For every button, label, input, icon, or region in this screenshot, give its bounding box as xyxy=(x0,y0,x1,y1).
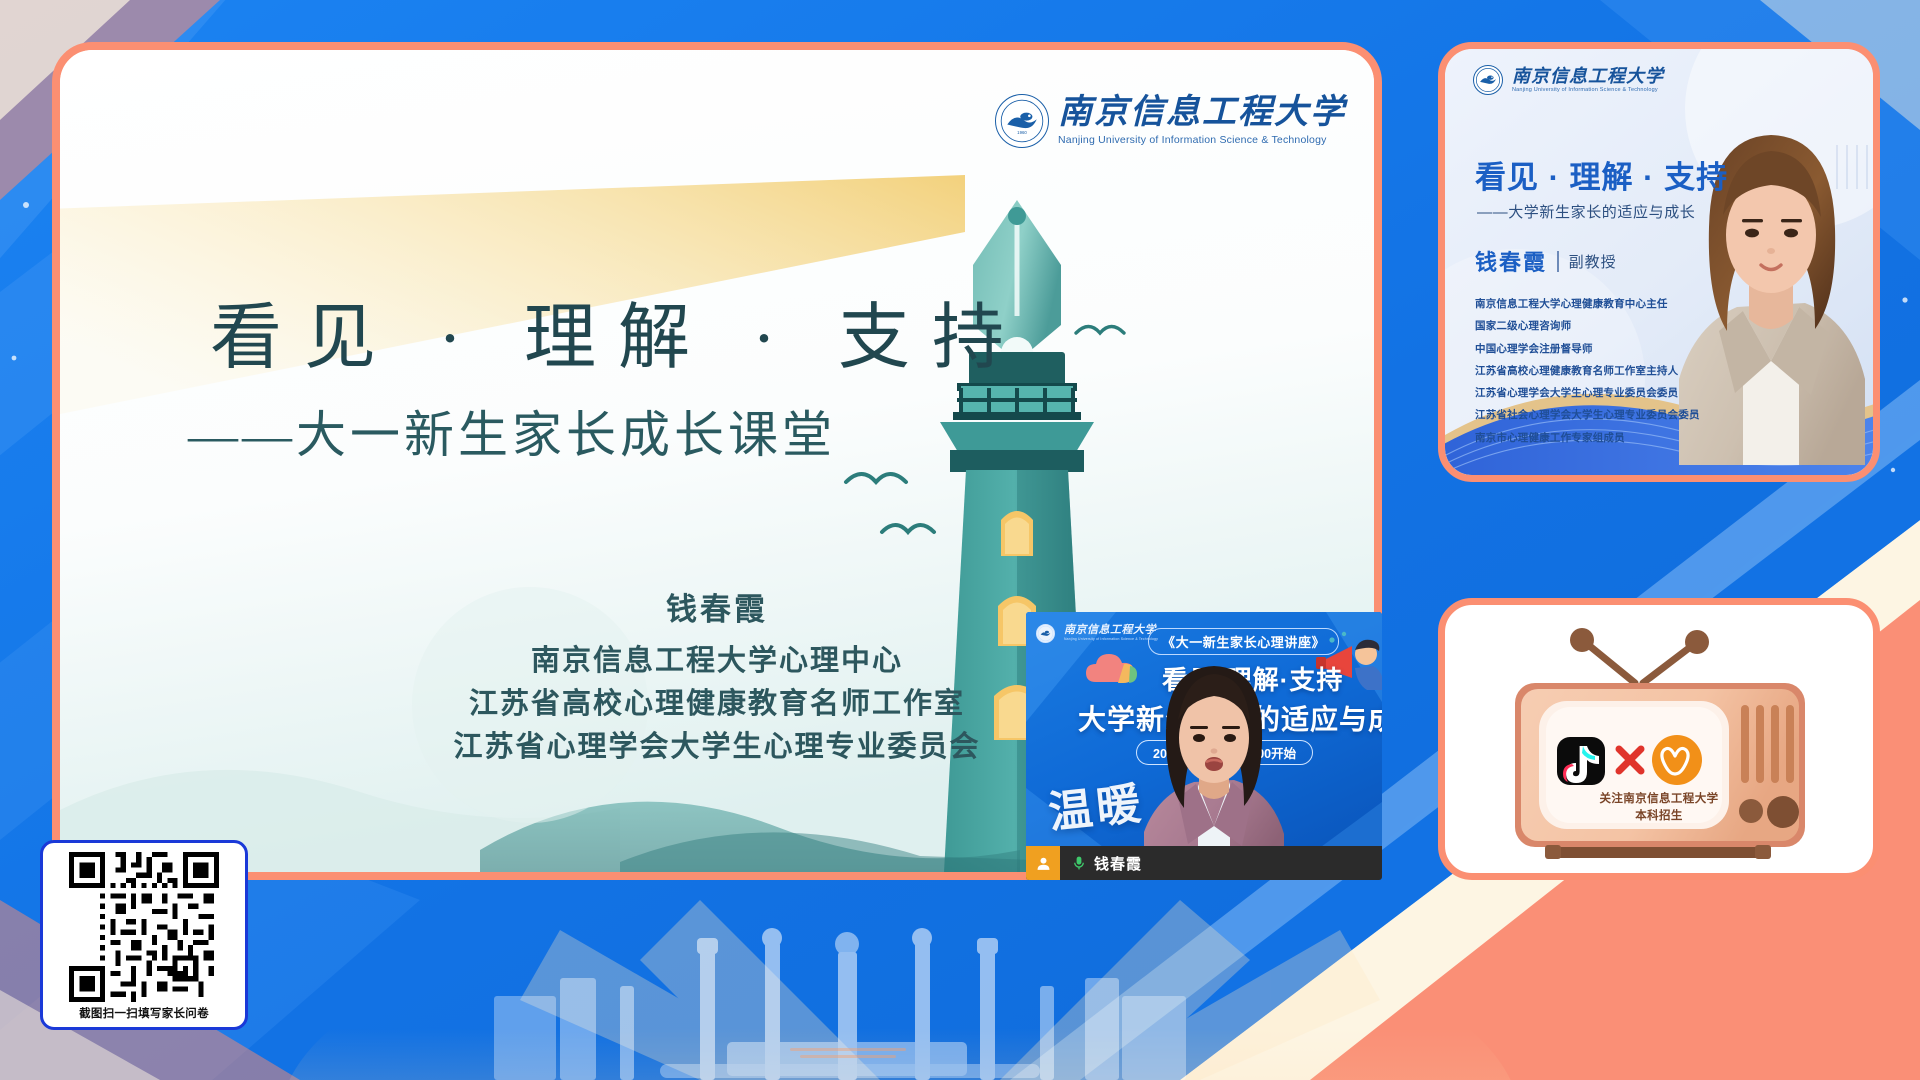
speaker-poster-card[interactable]: 南京信息工程大学 Nanjing University of Informati… xyxy=(1438,42,1880,482)
divider xyxy=(1557,251,1559,272)
video-warm-text: 温暖 xyxy=(1045,767,1147,841)
video-university-logo: 南京信息工程大学 Nanjing University of Informati… xyxy=(1036,624,1158,643)
credential-item: 江苏省心理学会大学生心理专业委员会委员 xyxy=(1475,382,1700,404)
video-feed-panel[interactable]: 南京信息工程大学 Nanjing University of Informati… xyxy=(1026,612,1382,880)
poster-speaker-name: 钱春霞 xyxy=(1475,245,1547,277)
credential-item: 江苏省高校心理健康教育名师工作室主持人 xyxy=(1475,360,1700,382)
university-seal-icon: 1960 xyxy=(995,94,1049,148)
university-name-cn: 南京信息工程大学 xyxy=(1512,67,1664,85)
credential-item: 江苏省社会心理学会大学生心理专业委员会委员 xyxy=(1475,404,1700,426)
video-participant-name: 钱春霞 xyxy=(1094,853,1142,874)
slide-title: 看见 · 理解 · 支持 xyxy=(210,278,1026,383)
university-seal-icon xyxy=(1473,65,1503,95)
slide-subtitle: ——大一新生家长成长课堂 xyxy=(188,395,836,467)
qr-code-icon[interactable] xyxy=(69,852,219,1002)
poster-heading: 看见 · 理解 · 支持 xyxy=(1475,152,1728,197)
credential-item: 国家二级心理咨询师 xyxy=(1475,315,1700,337)
social-media-promo-card[interactable]: 关注南京信息工程大学 本科招生 xyxy=(1438,598,1880,880)
poster-speaker-row: 钱春霞 副教授 xyxy=(1475,245,1617,277)
university-seal-icon xyxy=(1036,624,1055,643)
poster-university-logo: 南京信息工程大学 Nanjing University of Informati… xyxy=(1473,65,1664,95)
credential-item: 南京信息工程大学心理健康教育中心主任 xyxy=(1475,293,1700,315)
university-name-cn: 南京信息工程大学 xyxy=(1058,96,1346,130)
wechat-channels-icon xyxy=(1652,735,1702,785)
credential-item: 南京市心理健康工作专家组成员 xyxy=(1475,427,1700,449)
poster-speaker-title: 副教授 xyxy=(1569,251,1617,272)
poster-credentials-list: 南京信息工程大学心理健康教育中心主任 国家二级心理咨询师 中国心理学会注册督导师… xyxy=(1475,293,1700,449)
video-speaker-image xyxy=(1138,646,1288,880)
university-name-en: Nanjing University of Information Scienc… xyxy=(1512,88,1664,94)
person-icon xyxy=(1026,846,1060,880)
university-name-en: Nanjing University of Information Scienc… xyxy=(1064,638,1158,641)
questionnaire-qr-card[interactable]: 截图扫一扫填写家长问卷 xyxy=(40,840,248,1030)
qr-caption: 截图扫一扫填写家长问卷 xyxy=(52,1005,236,1021)
svg-text:1960: 1960 xyxy=(1017,130,1027,135)
slide-university-logo: 1960 南京信息工程大学 Nanjing University of Info… xyxy=(995,94,1346,148)
video-name-bar: 钱春霞 xyxy=(1026,846,1382,880)
retro-tv-icon xyxy=(1445,605,1873,873)
microphone-icon[interactable] xyxy=(1066,855,1092,871)
poster-subtitle: ——大学新生家长的适应与成长 xyxy=(1477,201,1695,222)
university-name-en: Nanjing University of Information Scienc… xyxy=(1058,135,1346,146)
credential-item: 中国心理学会注册督导师 xyxy=(1475,338,1700,360)
university-name-cn: 南京信息工程大学 xyxy=(1064,625,1158,636)
